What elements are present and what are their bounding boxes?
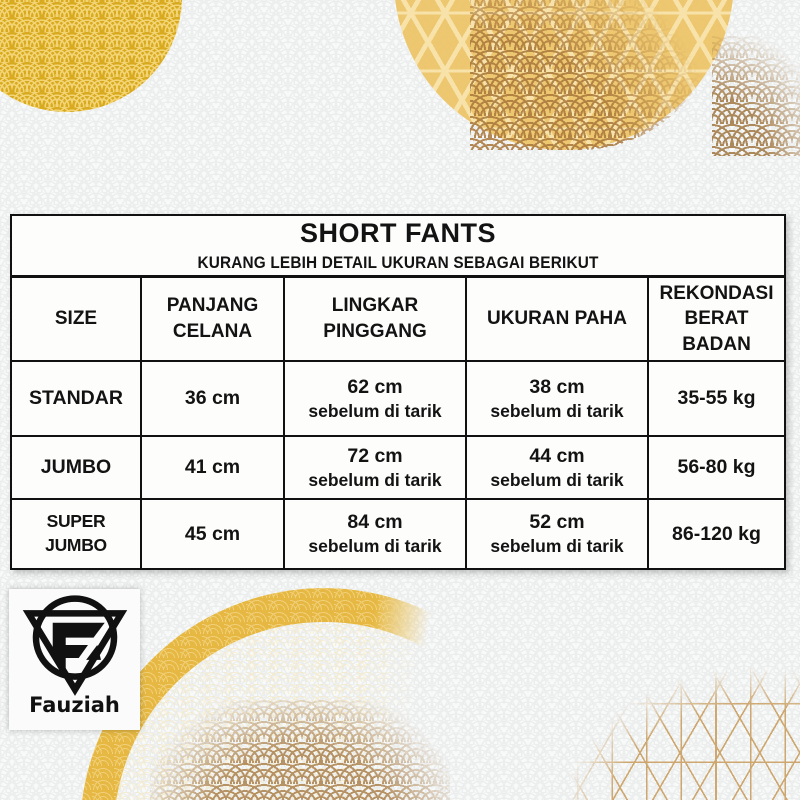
cell-paha-standar: 38 cm sebelum di tarik	[466, 361, 648, 436]
cell-lingkar-standar-value: 62 cm	[288, 374, 462, 400]
cell-paha-jumbo: 44 cm sebelum di tarik	[466, 436, 648, 499]
cell-lingkar-super-jumbo-value: 84 cm	[288, 509, 462, 535]
cell-size-jumbo: JUMBO	[11, 436, 141, 499]
column-header-paha-line1: UKURAN PAHA	[470, 306, 644, 332]
cell-paha-standar-note: sebelum di tarik	[470, 400, 644, 424]
cell-panjang-standar: 36 cm	[141, 361, 284, 436]
column-header-panjang-line1: PANJANG	[145, 293, 280, 319]
column-header-lingkar-pinggang: LINGKAR PINGGANG	[284, 277, 466, 362]
cell-lingkar-jumbo: 72 cm sebelum di tarik	[284, 436, 466, 499]
table-row: SUPER JUMBO 45 cm 84 cm sebelum di tarik…	[11, 499, 785, 569]
cell-paha-super-jumbo-note: sebelum di tarik	[470, 535, 644, 559]
table-title-cell: SHORT FANTS KURANG LEBIH DETAIL UKURAN S…	[11, 215, 785, 277]
brand-name: Fauziah	[29, 693, 120, 717]
column-header-berat-line1: REKONDASI	[652, 281, 781, 307]
cell-panjang-super-jumbo: 45 cm	[141, 499, 284, 569]
cell-paha-jumbo-note: sebelum di tarik	[470, 469, 644, 493]
cell-paha-jumbo-value: 44 cm	[470, 443, 644, 469]
cell-lingkar-standar-note: sebelum di tarik	[288, 400, 462, 424]
poster-canvas: FAUZIAH SHORT FANTS KURANG LEBIH DETAIL …	[0, 0, 800, 800]
cell-size-standar: STANDAR	[11, 361, 141, 436]
column-header-berat-line2: BERAT BADAN	[652, 306, 781, 357]
page-subtitle: KURANG LEBIH DETAIL UKURAN SEBAGAI BERIK…	[42, 254, 754, 273]
fz-monogram-icon	[19, 593, 131, 697]
table-row: STANDAR 36 cm 62 cm sebelum di tarik 38 …	[11, 361, 785, 436]
cell-size-super-jumbo: SUPER JUMBO	[11, 499, 141, 569]
cell-paha-super-jumbo: 52 cm sebelum di tarik	[466, 499, 648, 569]
cell-lingkar-jumbo-note: sebelum di tarik	[288, 469, 462, 493]
cell-lingkar-super-jumbo-note: sebelum di tarik	[288, 535, 462, 559]
cell-lingkar-super-jumbo: 84 cm sebelum di tarik	[284, 499, 466, 569]
cell-lingkar-standar: 62 cm sebelum di tarik	[284, 361, 466, 436]
cell-berat-jumbo: 56-80 kg	[648, 436, 785, 499]
cell-berat-standar: 35-55 kg	[648, 361, 785, 436]
column-header-panjang-line2: CELANA	[145, 319, 280, 345]
size-chart-table: SHORT FANTS KURANG LEBIH DETAIL UKURAN S…	[10, 214, 786, 570]
cell-berat-super-jumbo: 86-120 kg	[648, 499, 785, 569]
column-header-panjang-celana: PANJANG CELANA	[141, 277, 284, 362]
cell-lingkar-jumbo-value: 72 cm	[288, 443, 462, 469]
column-header-lingkar-line2: PINGGANG	[288, 319, 462, 345]
column-header-size: SIZE	[11, 277, 141, 362]
column-header-size-line1: SIZE	[15, 306, 137, 332]
cell-paha-standar-value: 38 cm	[470, 374, 644, 400]
column-header-ukuran-paha: UKURAN PAHA	[466, 277, 648, 362]
table-row: JUMBO 41 cm 72 cm sebelum di tarik 44 cm…	[11, 436, 785, 499]
table-title-row: SHORT FANTS KURANG LEBIH DETAIL UKURAN S…	[11, 215, 785, 277]
column-header-lingkar-line1: LINGKAR	[288, 293, 462, 319]
column-header-berat-badan: REKONDASI BERAT BADAN	[648, 277, 785, 362]
page-title: SHORT FANTS	[15, 218, 781, 249]
cell-panjang-jumbo: 41 cm	[141, 436, 284, 499]
brand-logo: Fauziah	[9, 589, 140, 730]
cell-paha-super-jumbo-value: 52 cm	[470, 509, 644, 535]
table-header-row: SIZE PANJANG CELANA LINGKAR PINGGANG UKU…	[11, 277, 785, 362]
